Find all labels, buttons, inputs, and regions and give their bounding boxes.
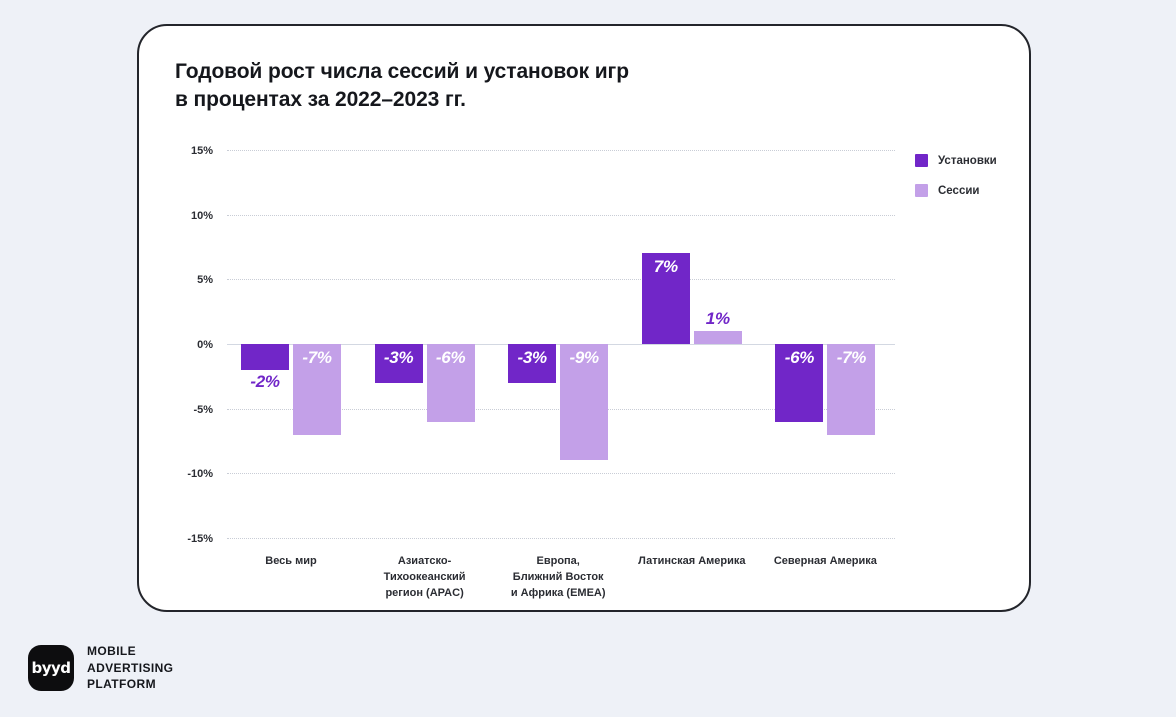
bar-value-label: -3% [518,348,547,368]
footer-tagline-line-2: ADVERTISING [87,660,173,677]
x-axis-category-label: Северная Америка [740,554,910,570]
legend-item-label: Установки [938,155,997,167]
category-label-line: Северная Америка [740,554,910,570]
footer-tagline-line-1: MOBILE [87,643,173,660]
y-axis-tick-label: 15% [191,145,213,157]
gridline: -15% [227,538,895,539]
chart-group: -6%-7%Северная Америка [775,150,875,538]
bar-value-label: 1% [706,309,730,329]
footer-tagline: MOBILE ADVERTISING PLATFORM [87,643,173,693]
bar-value-label: -7% [837,348,866,368]
bar-value-label: 7% [654,257,678,277]
y-axis-tick-label: -5% [193,404,213,416]
footer-tagline-line-3: PLATFORM [87,676,173,693]
byyd-logo-mark: byyd [28,645,74,691]
legend-item[interactable]: Сессии [915,184,997,197]
byyd-logo-text: byyd [31,659,70,677]
bar-installs[interactable]: -3% [375,344,423,383]
chart-group: 7%1%Латинская Америка [642,150,742,538]
chart-group: -3%-9%Европа,Ближний Востоки Африка (EME… [508,150,608,538]
bar-value-label: -2% [250,372,279,392]
legend-item[interactable]: Установки [915,154,997,167]
bar-installs[interactable]: -2% [241,344,289,370]
legend-swatch-icon [915,184,928,197]
bar-sessions[interactable]: -9% [560,344,608,460]
y-axis-tick-label: 5% [197,274,213,286]
legend-swatch-icon [915,154,928,167]
bar-value-label: -9% [570,348,599,368]
bar-value-label: -6% [785,348,814,368]
chart-card: Годовой рост числа сессий и установок иг… [137,24,1031,612]
category-label-line: и Африка (EMEA) [473,586,643,602]
y-axis-tick-label: -15% [187,533,213,545]
bar-value-label: -6% [436,348,465,368]
chart-plot-area: 15%10%5%0%-5%-10%-15%-2%-7%Весь мир-3%-6… [227,150,895,538]
footer-logo: byyd MOBILE ADVERTISING PLATFORM [28,643,173,693]
chart-title-line-1: Годовой рост числа сессий и установок иг… [175,58,795,86]
bar-installs[interactable]: 7% [642,253,690,344]
chart-group: -2%-7%Весь мир [241,150,341,538]
chart-title: Годовой рост числа сессий и установок иг… [175,58,795,113]
y-axis-tick-label: 0% [197,339,213,351]
legend-item-label: Сессии [938,185,979,197]
chart-page: Годовой рост числа сессий и установок иг… [0,0,1176,717]
chart-title-line-2: в процентах за 2022–2023 гг. [175,86,795,114]
bar-sessions[interactable]: -7% [293,344,341,435]
bar-installs[interactable]: -6% [775,344,823,422]
y-axis-tick-label: 10% [191,210,213,222]
bar-sessions[interactable]: -7% [827,344,875,435]
chart-group: -3%-6%Азиатско-Тихоокеанскийрегион (APAC… [375,150,475,538]
y-axis-tick-label: -10% [187,468,213,480]
bar-sessions[interactable]: 1% [694,331,742,344]
chart-legend: УстановкиСессии [915,154,997,214]
bar-sessions[interactable]: -6% [427,344,475,422]
category-label-line: Ближний Восток [473,570,643,586]
bar-installs[interactable]: -3% [508,344,556,383]
bar-value-label: -3% [384,348,413,368]
bar-value-label: -7% [302,348,331,368]
